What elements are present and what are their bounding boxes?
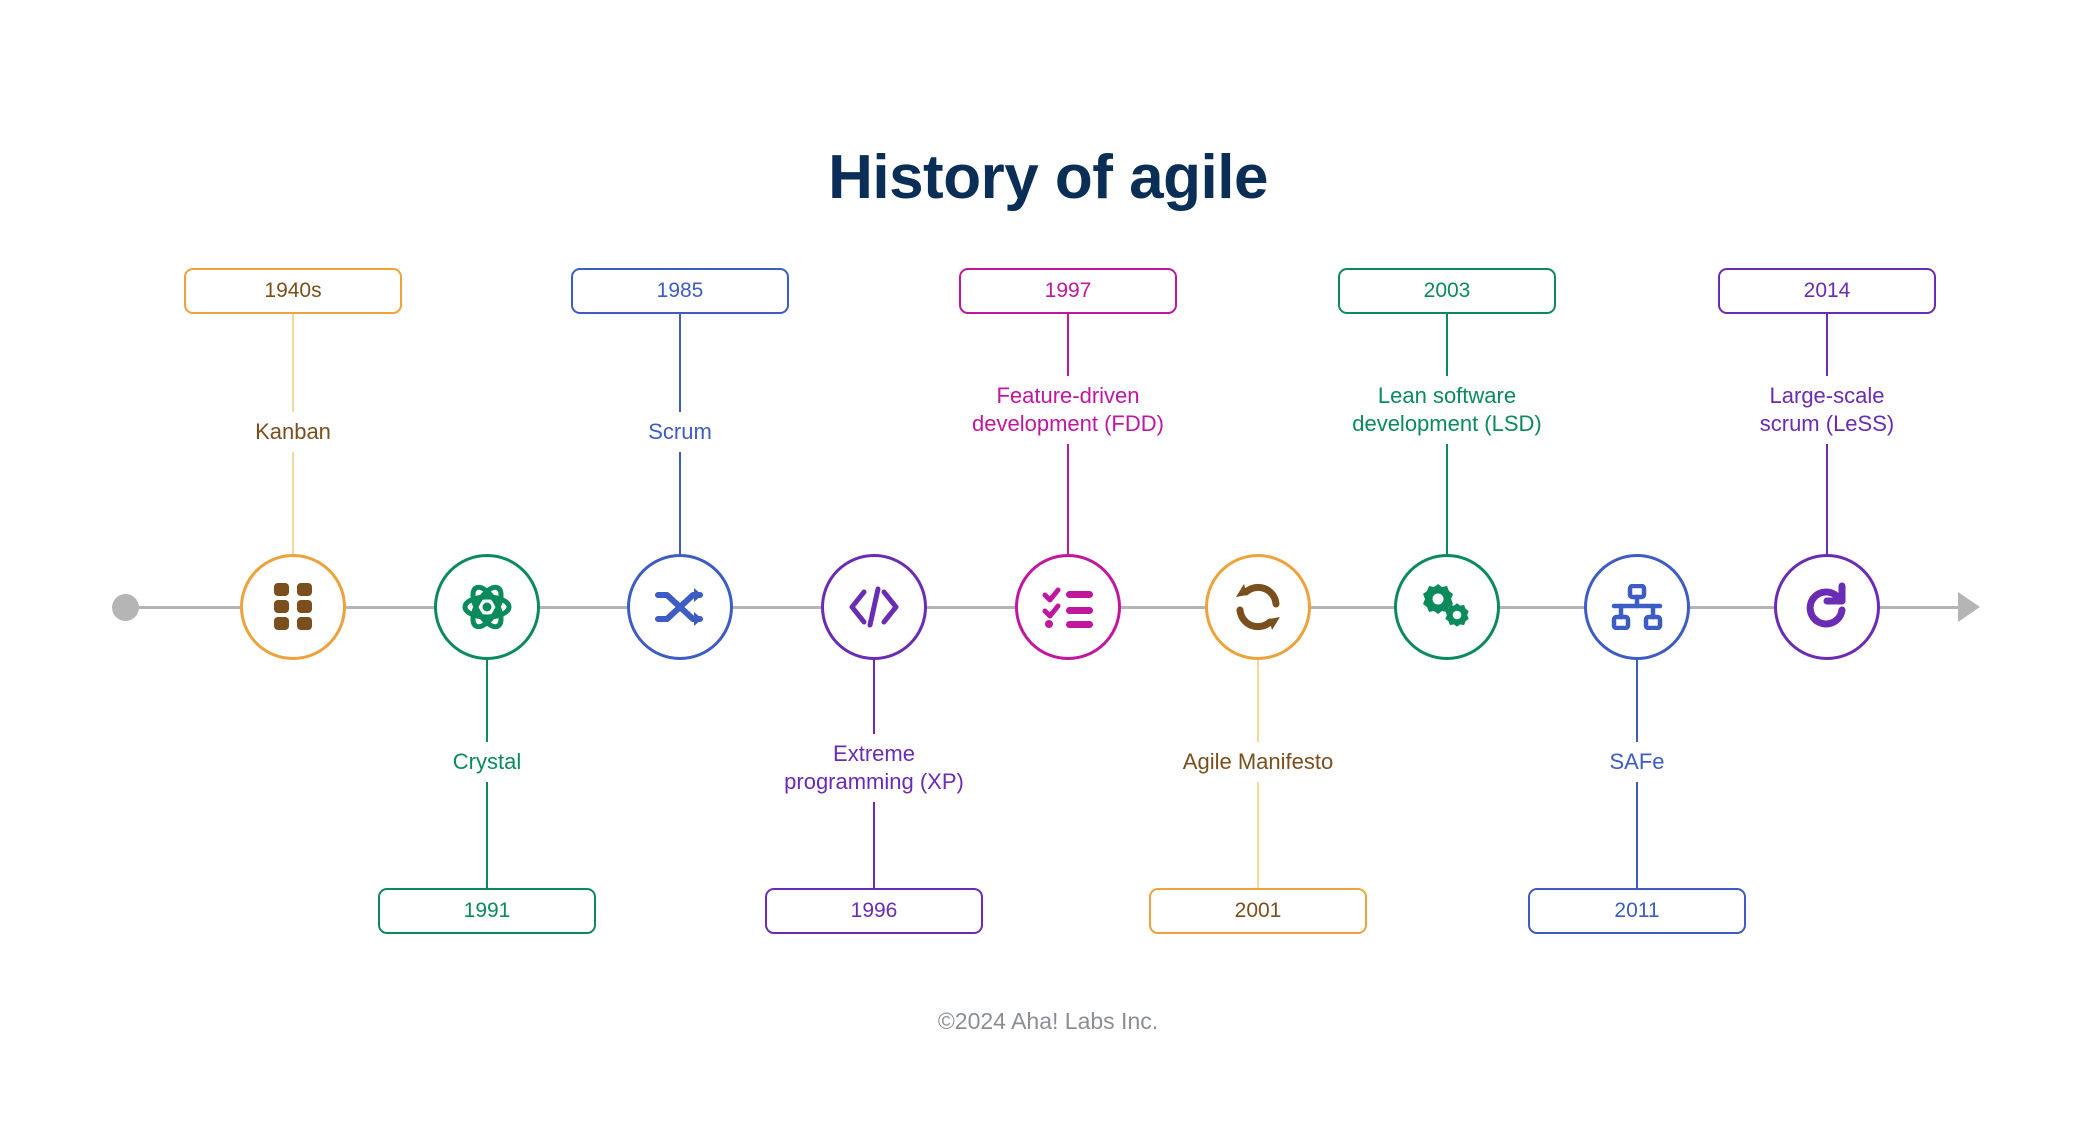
less-year-chip[interactable]: 2014: [1718, 268, 1936, 314]
safe-circle[interactable]: [1584, 554, 1690, 660]
lsd-year-label: 2003: [1424, 279, 1471, 303]
agile-manifesto-caption: Agile Manifesto: [1118, 748, 1398, 776]
rotate-right-icon: [1802, 582, 1852, 632]
lsd-caption-line: development (LSD): [1307, 410, 1587, 438]
scrum-caption: Scrum: [540, 418, 820, 446]
safe-caption: SAFe: [1497, 748, 1777, 776]
less-connector-lower: [1826, 444, 1828, 554]
scrum-year-chip[interactable]: 1985: [571, 268, 789, 314]
kanban-year-label: 1940s: [264, 279, 321, 303]
agile-manifesto-caption-line: Agile Manifesto: [1118, 748, 1398, 776]
sitemap-icon: [1611, 584, 1663, 630]
dot-grid-icon: [271, 581, 315, 633]
xp-connector-lower: [873, 660, 875, 734]
xp-connector-upper: [873, 802, 875, 888]
scrum-connector-upper: [679, 314, 681, 412]
crystal-year-label: 1991: [464, 899, 511, 923]
fdd-connector-upper: [1067, 314, 1069, 376]
safe-connector-lower: [1636, 660, 1638, 742]
kanban-circle[interactable]: [240, 554, 346, 660]
page-title: History of agile: [0, 147, 2096, 209]
fdd-year-label: 1997: [1045, 279, 1092, 303]
xp-caption-line: programming (XP): [734, 768, 1014, 796]
agile-manifesto-connector-upper: [1257, 782, 1259, 888]
crystal-connector-lower: [486, 660, 488, 742]
fdd-connector-lower: [1067, 444, 1069, 554]
lsd-caption: Lean softwaredevelopment (LSD): [1307, 382, 1587, 438]
lsd-connector-upper: [1446, 314, 1448, 376]
kanban-year-chip[interactable]: 1940s: [184, 268, 402, 314]
xp-caption: Extremeprogramming (XP): [734, 740, 1014, 796]
crystal-caption: Crystal: [347, 748, 627, 776]
less-caption: Large-scalescrum (LeSS): [1687, 382, 1967, 438]
fdd-caption-line: Feature-driven: [928, 382, 1208, 410]
xp-caption-line: Extreme: [734, 740, 1014, 768]
agile-manifesto-year-chip[interactable]: 2001: [1149, 888, 1367, 934]
scrum-year-label: 1985: [657, 279, 704, 303]
less-caption-line: Large-scale: [1687, 382, 1967, 410]
agile-manifesto-connector-lower: [1257, 660, 1259, 742]
xp-circle[interactable]: [821, 554, 927, 660]
less-year-label: 2014: [1804, 279, 1851, 303]
shuffle-icon: [654, 583, 706, 631]
lsd-circle[interactable]: [1394, 554, 1500, 660]
scrum-circle[interactable]: [627, 554, 733, 660]
kanban-connector-lower: [292, 452, 294, 554]
crystal-year-chip[interactable]: 1991: [378, 888, 596, 934]
crystal-connector-upper: [486, 782, 488, 888]
refresh-cycle-icon: [1232, 582, 1284, 632]
less-connector-upper: [1826, 314, 1828, 376]
fdd-caption: Feature-drivendevelopment (FDD): [928, 382, 1208, 438]
safe-connector-upper: [1636, 782, 1638, 888]
crystal-caption-line: Crystal: [347, 748, 627, 776]
scrum-connector-lower: [679, 452, 681, 554]
xp-year-label: 1996: [851, 899, 898, 923]
fdd-circle[interactable]: [1015, 554, 1121, 660]
safe-caption-line: SAFe: [1497, 748, 1777, 776]
lsd-connector-lower: [1446, 444, 1448, 554]
safe-year-chip[interactable]: 2011: [1528, 888, 1746, 934]
code-icon: [847, 584, 901, 630]
xp-year-chip[interactable]: 1996: [765, 888, 983, 934]
agile-manifesto-year-label: 2001: [1235, 899, 1282, 923]
scrum-caption-line: Scrum: [540, 418, 820, 446]
atom-icon: [461, 581, 513, 633]
less-circle[interactable]: [1774, 554, 1880, 660]
checklist-icon: [1041, 584, 1095, 630]
kanban-caption: Kanban: [153, 418, 433, 446]
lsd-year-chip[interactable]: 2003: [1338, 268, 1556, 314]
fdd-year-chip[interactable]: 1997: [959, 268, 1177, 314]
kanban-connector-upper: [292, 314, 294, 412]
copyright-footer: ©2024 Aha! Labs Inc.: [0, 1008, 2096, 1035]
crystal-circle[interactable]: [434, 554, 540, 660]
kanban-caption-line: Kanban: [153, 418, 433, 446]
timeline-arrow-icon: [1958, 592, 1980, 622]
infographic-canvas: History of agile 1940sKanban 1991Crystal…: [0, 0, 2096, 1136]
fdd-caption-line: development (FDD): [928, 410, 1208, 438]
safe-year-label: 2011: [1614, 899, 1659, 923]
agile-manifesto-circle[interactable]: [1205, 554, 1311, 660]
lsd-caption-line: Lean software: [1307, 382, 1587, 410]
gears-icon: [1420, 582, 1474, 632]
less-caption-line: scrum (LeSS): [1687, 410, 1967, 438]
